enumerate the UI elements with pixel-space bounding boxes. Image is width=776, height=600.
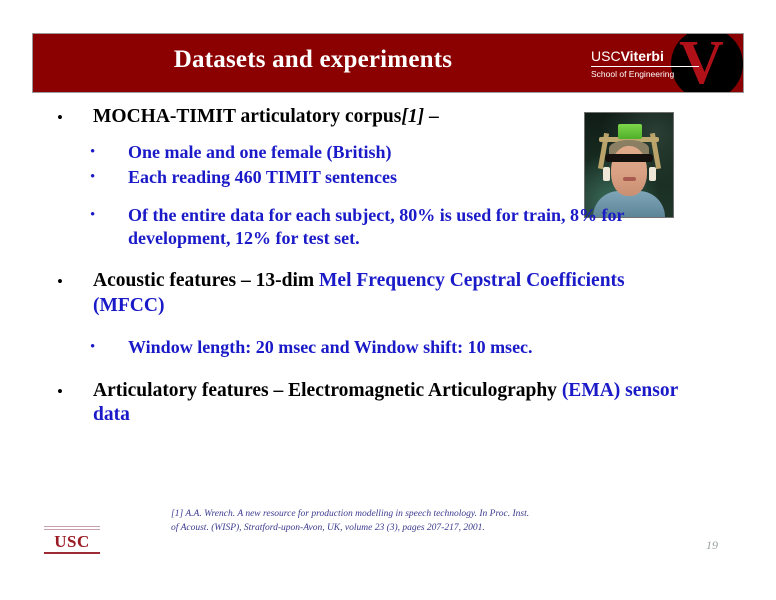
bullet-articulatory-features-text: Articulatory features – Electromagnetic …: [93, 379, 693, 428]
viterbi-divider: [591, 66, 699, 67]
articulatory-features-label: Articulatory features – Electromagnetic …: [93, 380, 562, 401]
bullet-mocha-timit-label: MOCHA-TIMIT articulatory corpus: [93, 106, 401, 127]
slide-header-band: Datasets and experiments V USCViterbi Sc…: [32, 33, 744, 93]
bullet-marker-icon: •: [57, 379, 93, 402]
usc-wordmark: USC: [44, 532, 100, 551]
page-number: 19: [706, 538, 718, 553]
bullet-acoustic-features: • Acoustic features – 13-dim Mel Frequen…: [57, 269, 776, 318]
citation-ref-1: [1]: [401, 106, 424, 127]
usc-rule-top-2: [44, 529, 100, 531]
viterbi-title-line: USCViterbi: [591, 48, 701, 64]
bullet-marker-icon: •: [57, 105, 93, 128]
footnote-citation: [1] A.A. Wrench. A new resource for prod…: [171, 508, 611, 536]
viterbi-name-text: Viterbi: [621, 48, 664, 64]
bullet-marker-icon: •: [57, 269, 93, 292]
bullet-articulatory-features: • Articulatory features – Electromagneti…: [57, 379, 776, 428]
footnote-line-2: of Acoust. (WISP), Stratford-upon-Avon, …: [171, 522, 611, 536]
bullet-mocha-timit: • MOCHA-TIMIT articulatory corpus[1] –: [57, 105, 776, 129]
bullet-marker-icon: •: [90, 336, 128, 357]
bullet-window-params: • Window length: 20 msec and Window shif…: [90, 336, 776, 359]
bullet-mocha-timit-dash: –: [424, 106, 439, 127]
footnote-line-1: [1] A.A. Wrench. A new resource for prod…: [171, 508, 611, 522]
viterbi-subtitle: School of Engineering: [591, 69, 701, 79]
bullet-marker-icon: •: [90, 141, 128, 162]
viterbi-wordmark: USCViterbi School of Engineering: [591, 48, 701, 79]
bullet-sentences-text: Each reading 460 TIMIT sentences: [128, 166, 718, 189]
bullet-speakers-text: One male and one female (British): [128, 141, 718, 164]
bullet-data-split: • Of the entire data for each subject, 8…: [90, 204, 776, 249]
usc-viterbi-logo: V USCViterbi School of Engineering: [573, 34, 743, 93]
bullet-acoustic-features-text: Acoustic features – 13-dim Mel Frequency…: [93, 269, 693, 318]
bullet-data-split-text: Of the entire data for each subject, 80%…: [128, 204, 718, 249]
bullet-window-params-text: Window length: 20 msec and Window shift:…: [128, 336, 718, 359]
acoustic-features-label: Acoustic features – 13-dim: [93, 270, 319, 291]
viterbi-usc-text: USC: [591, 48, 621, 64]
bullet-marker-icon: •: [90, 204, 128, 225]
bullet-speakers: • One male and one female (British): [90, 141, 776, 164]
slide-content: • MOCHA-TIMIT articulatory corpus[1] – •…: [0, 105, 776, 431]
bullet-mocha-timit-text: MOCHA-TIMIT articulatory corpus[1] –: [93, 105, 693, 129]
usc-logo: USC: [44, 524, 100, 555]
bullet-marker-icon: •: [90, 166, 128, 187]
usc-rule-bottom: [44, 552, 100, 554]
bullet-sentences: • Each reading 460 TIMIT sentences: [90, 166, 776, 189]
usc-rule-top-1: [44, 526, 100, 528]
